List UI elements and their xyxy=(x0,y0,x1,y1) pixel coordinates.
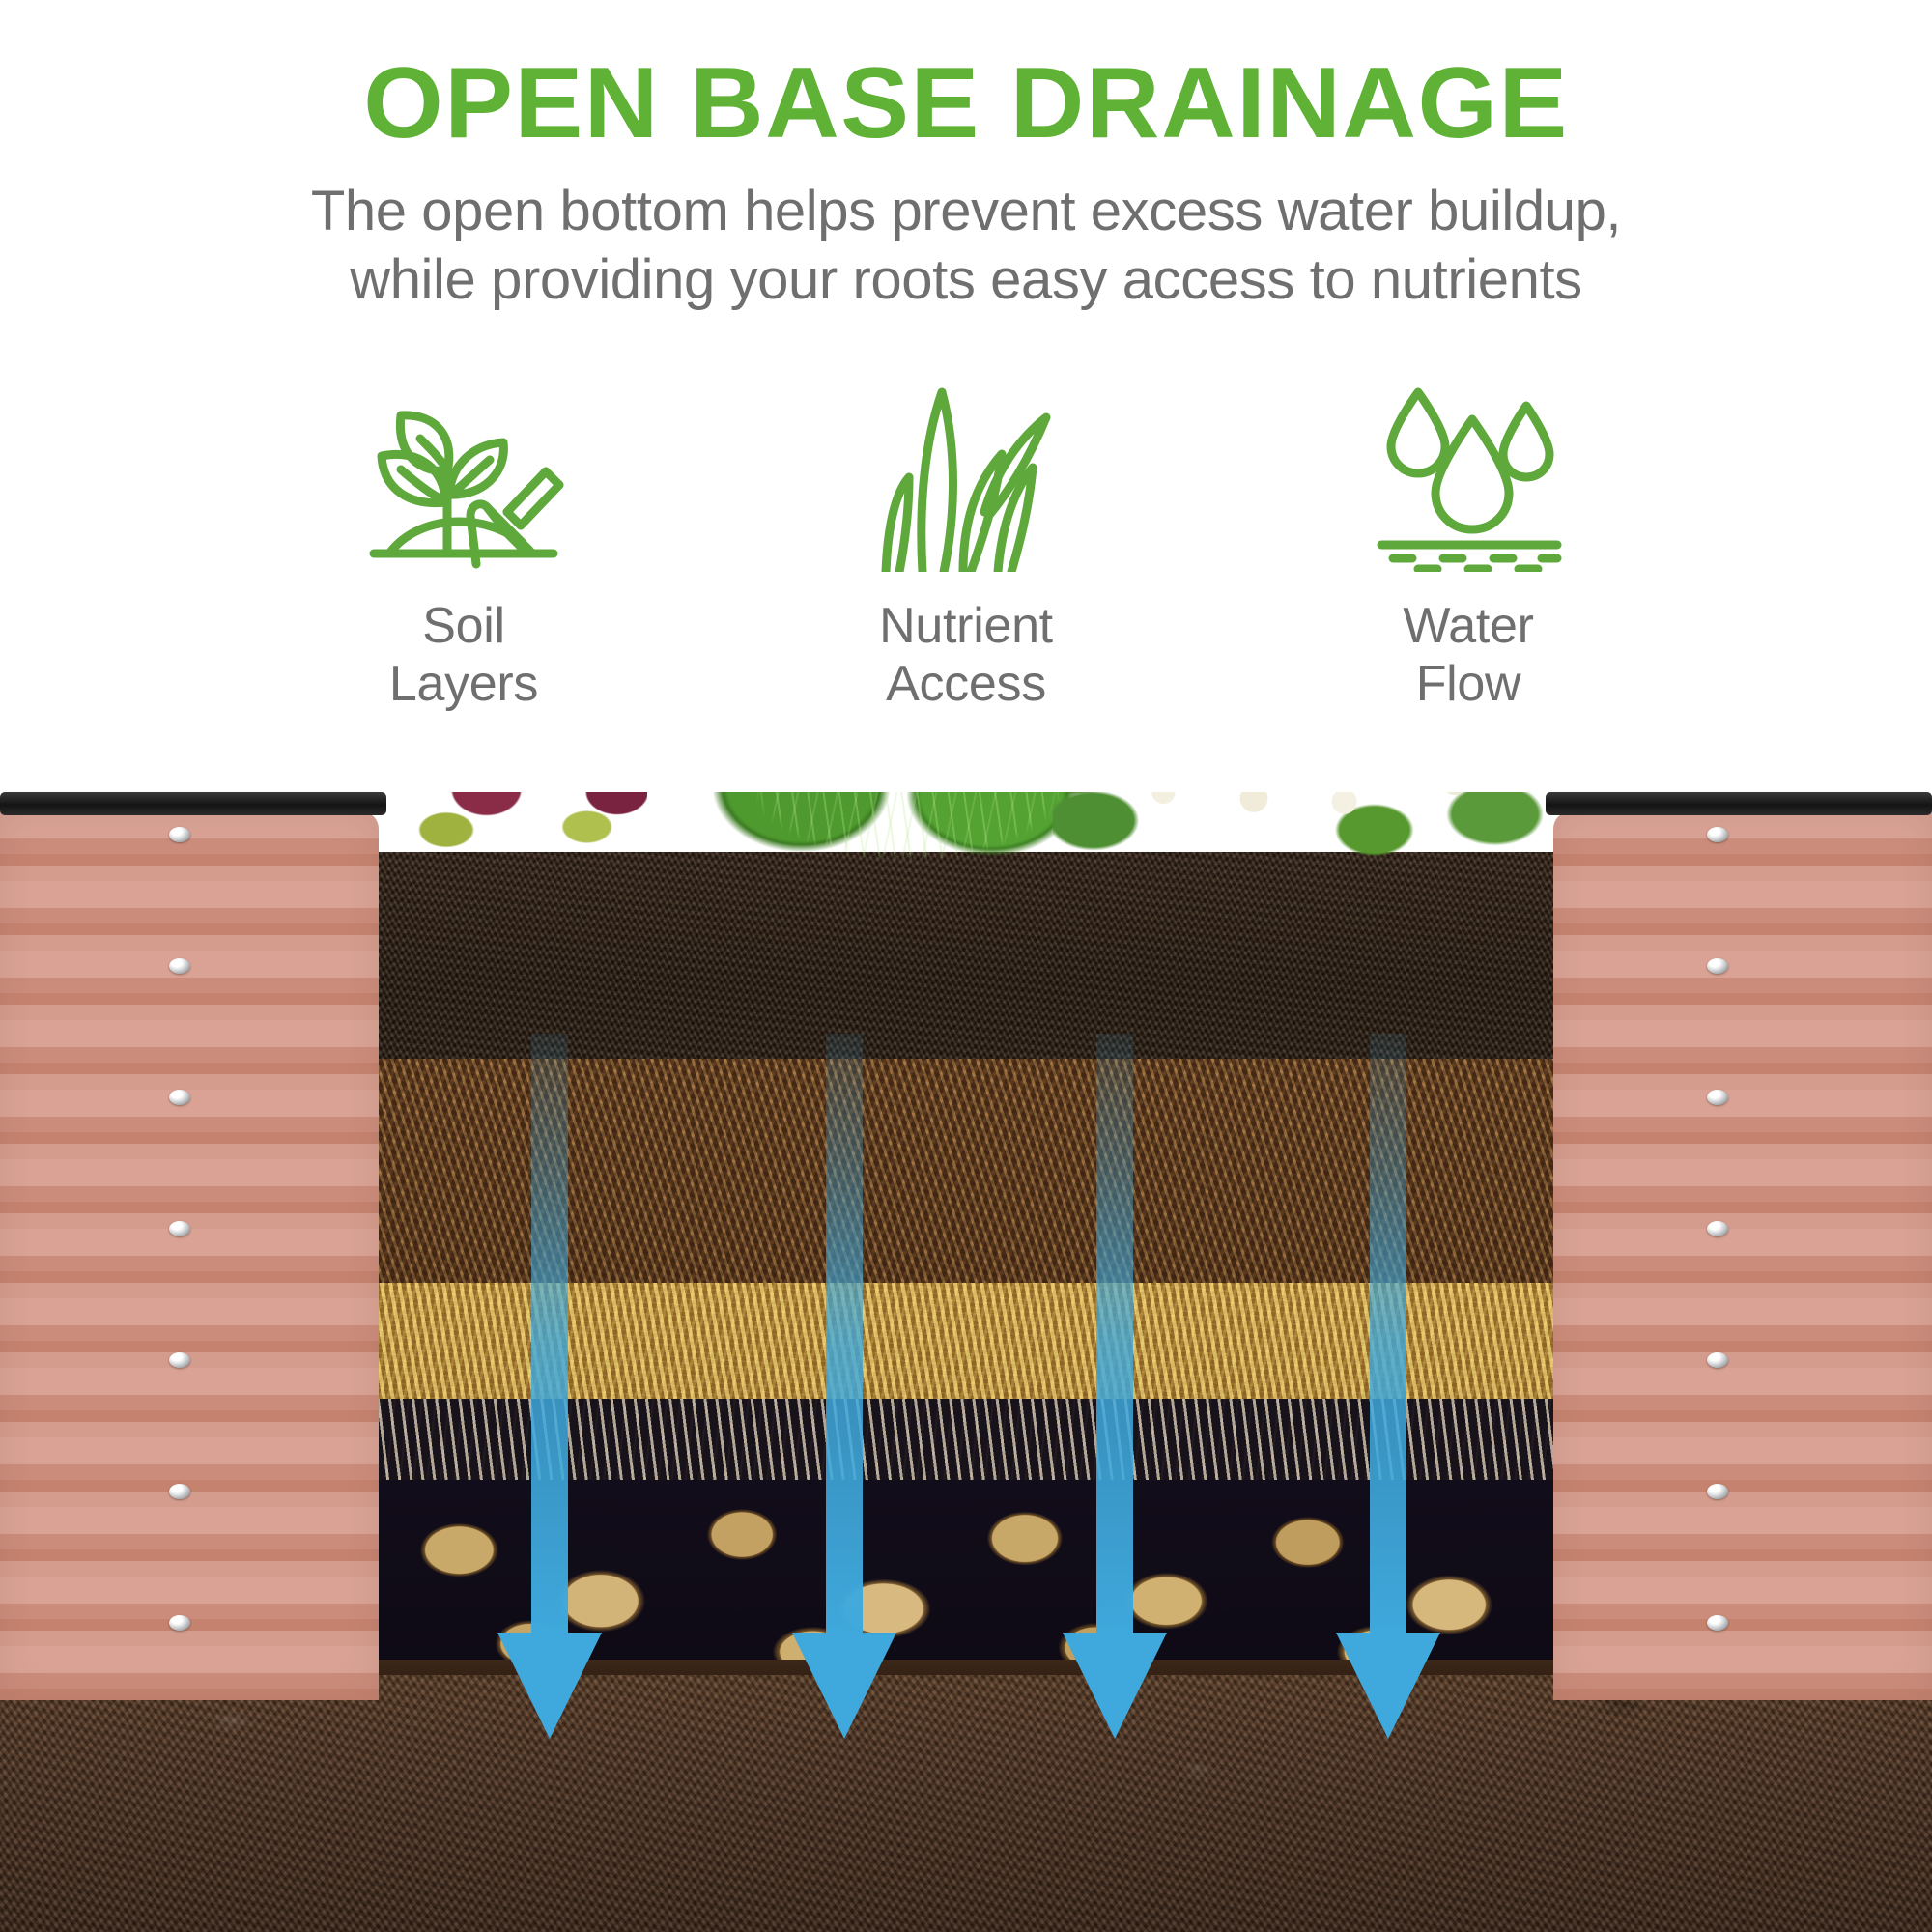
layer-straw xyxy=(377,1283,1555,1418)
screw xyxy=(1707,1221,1728,1236)
bed-top-rail-left xyxy=(0,792,386,815)
bed-top-rail-right xyxy=(1546,792,1932,815)
subtitle-line-2: while providing your roots easy access t… xyxy=(0,246,1932,315)
screw xyxy=(169,827,190,842)
feature-nutrient-access-label: Nutrient Access xyxy=(879,597,1053,714)
subtitle-line-1: The open bottom helps prevent excess wat… xyxy=(0,178,1932,246)
bed-wall-left xyxy=(0,811,379,1700)
soil-layer-stack xyxy=(377,852,1555,1675)
feature-label-line-1: Water xyxy=(1403,597,1533,655)
screw xyxy=(169,1221,190,1236)
screw-column-left xyxy=(180,811,182,1700)
screw xyxy=(1707,1352,1728,1368)
page-title: OPEN BASE DRAINAGE xyxy=(0,50,1932,156)
layer-compost-topsoil xyxy=(377,852,1555,1070)
sprout-shovel-icon xyxy=(362,369,565,572)
native-ground-soil xyxy=(0,1662,1932,1932)
screw xyxy=(1707,1484,1728,1499)
screw xyxy=(1707,827,1728,842)
feature-soil-layers: Soil Layers xyxy=(213,369,715,714)
garden-bed-illustration: Cross-section of a raised metal garden b… xyxy=(0,792,1932,1932)
cauliflower-plant xyxy=(1053,792,1555,862)
header: OPEN BASE DRAINAGE The open bottom helps… xyxy=(0,0,1932,315)
screw-column-right xyxy=(1718,811,1719,1700)
feature-label-line-2: Flow xyxy=(1403,655,1533,713)
screw xyxy=(1707,1090,1728,1105)
feature-nutrient-access: Nutrient Access xyxy=(715,369,1217,714)
feature-list: Soil Layers Nutrient Access xyxy=(0,369,1932,714)
layer-bed-base-soil xyxy=(377,1660,1555,1675)
bed-wall-right xyxy=(1553,811,1932,1700)
screw xyxy=(169,1484,190,1499)
screw xyxy=(169,1615,190,1631)
feature-label-line-1: Nutrient xyxy=(879,597,1053,655)
feature-label-line-2: Access xyxy=(879,655,1053,713)
screw xyxy=(1707,1615,1728,1631)
screw xyxy=(169,1090,190,1105)
water-droplets-drainage-icon xyxy=(1372,369,1565,572)
feature-label-line-1: Soil xyxy=(389,597,538,655)
layer-mulch-bark xyxy=(377,1059,1555,1293)
page-subtitle: The open bottom helps prevent excess wat… xyxy=(0,178,1932,315)
plant-row xyxy=(377,792,1555,858)
feature-soil-layers-label: Soil Layers xyxy=(389,597,538,714)
layer-logs-wood xyxy=(377,1480,1555,1675)
feature-water-flow: Water Flow xyxy=(1217,369,1719,714)
feature-label-line-2: Layers xyxy=(389,655,538,713)
screw xyxy=(169,958,190,974)
screw xyxy=(169,1352,190,1368)
feature-water-flow-label: Water Flow xyxy=(1403,597,1533,714)
grass-blades-icon xyxy=(874,369,1058,572)
screw xyxy=(1707,958,1728,974)
